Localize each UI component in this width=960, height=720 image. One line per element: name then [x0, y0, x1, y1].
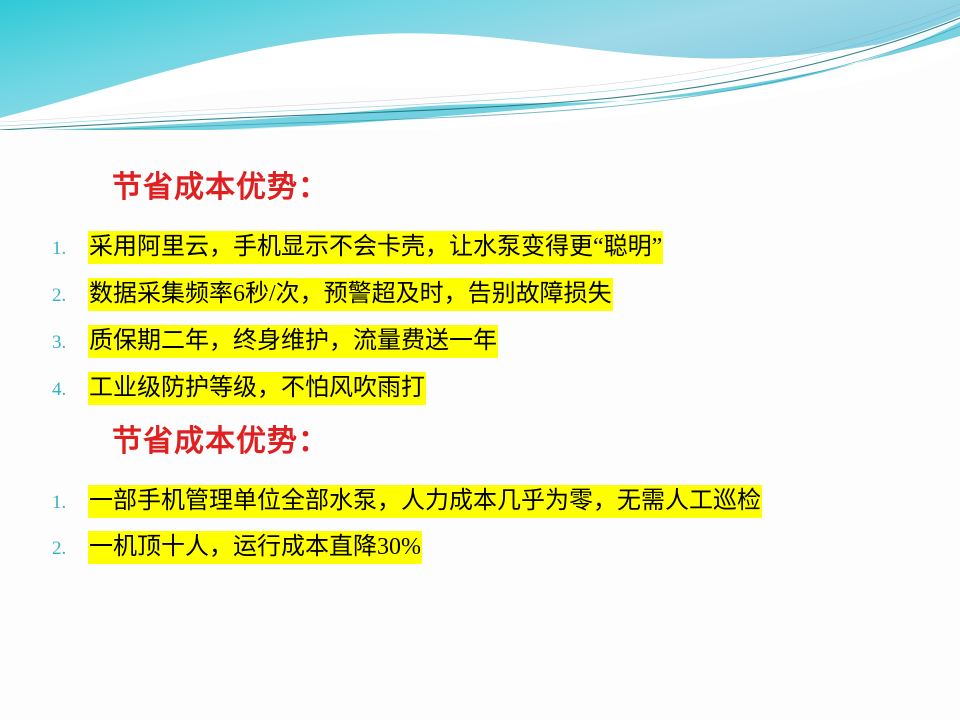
- list-item: 1. 采用阿里云，手机显示不会卡壳，让水泵变得更“聪明”: [48, 231, 663, 264]
- presentation-slide: 节省成本优势： 1. 采用阿里云，手机显示不会卡壳，让水泵变得更“聪明” 2. …: [0, 0, 960, 720]
- list-item-text: 采用阿里云，手机显示不会卡壳，让水泵变得更“聪明”: [88, 231, 663, 264]
- list-item-text: 质保期二年，终身维护，流量费送一年: [88, 325, 498, 358]
- list-item: 2. 一机顶十人，运行成本直降30%: [48, 531, 422, 564]
- slide-content-body: 节省成本优势： 1. 采用阿里云，手机显示不会卡壳，让水泵变得更“聪明” 2. …: [0, 0, 960, 720]
- list-item-number: 4.: [48, 380, 88, 399]
- list-item-text: 一部手机管理单位全部水泵，人力成本几乎为零，无需人工巡检: [88, 485, 762, 518]
- list-item: 3. 质保期二年，终身维护，流量费送一年: [48, 325, 498, 358]
- list-item: 2. 数据采集频率6秒/次，预警超及时，告别故障损失: [48, 278, 613, 311]
- list-item-number: 1.: [48, 239, 88, 258]
- list-item-number: 2.: [48, 539, 88, 558]
- list-item: 1. 一部手机管理单位全部水泵，人力成本几乎为零，无需人工巡检: [48, 485, 762, 518]
- list-item-text: 工业级防护等级，不怕风吹雨打: [88, 372, 426, 405]
- section-title-2: 节省成本优势：: [112, 424, 329, 460]
- list-item-number: 2.: [48, 286, 88, 305]
- list-item: 4. 工业级防护等级，不怕风吹雨打: [48, 372, 426, 405]
- list-item-text: 数据采集频率6秒/次，预警超及时，告别故障损失: [88, 278, 613, 311]
- list-item-number: 1.: [48, 493, 88, 512]
- section-title-1: 节省成本优势：: [112, 170, 329, 206]
- list-item-text: 一机顶十人，运行成本直降30%: [88, 531, 422, 564]
- list-item-number: 3.: [48, 333, 88, 352]
